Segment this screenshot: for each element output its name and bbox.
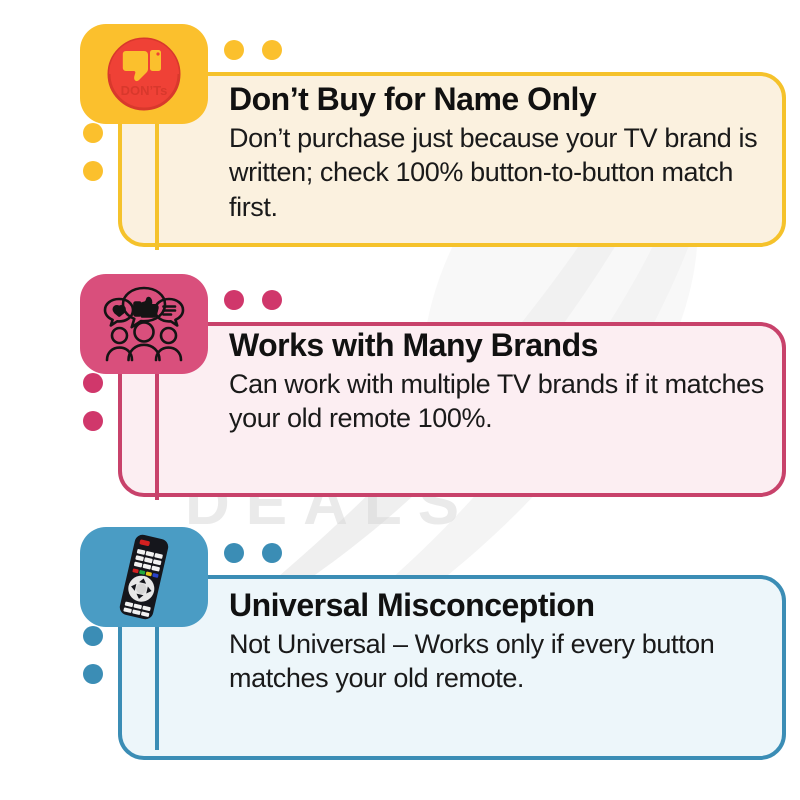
decor-dot — [83, 411, 103, 431]
card-many-brands-title: Works with Many Brands — [229, 328, 769, 363]
card-many-brands-body-text: Can work with multiple TV brands if it m… — [229, 367, 769, 436]
decor-dot — [83, 373, 103, 393]
card-universal-text: Universal Misconception Not Universal – … — [229, 588, 769, 696]
people-feedback-icon — [101, 285, 187, 363]
tv-remote-icon — [105, 532, 183, 622]
card-donts-title: Don’t Buy for Name Only — [229, 82, 769, 117]
card-universal-body-text: Not Universal – Works only if every butt… — [229, 627, 769, 696]
decor-dot — [83, 664, 103, 684]
decor-dot — [83, 161, 103, 181]
decor-dot — [262, 543, 282, 563]
card-many-brands-text: Works with Many Brands Can work with mul… — [229, 328, 769, 436]
decor-dot — [224, 40, 244, 60]
decor-dot — [83, 123, 103, 143]
decor-dot — [224, 290, 244, 310]
card-donts-stem — [155, 120, 159, 250]
card-universal-title: Universal Misconception — [229, 588, 769, 623]
decor-dot — [83, 626, 103, 646]
badge-universal[interactable] — [80, 527, 208, 627]
badge-donts-label: DON’Ts — [121, 83, 168, 98]
card-universal-stem — [155, 620, 159, 750]
card-donts-body-text: Don’t purchase just because your TV bran… — [229, 121, 769, 225]
badge-donts[interactable]: DON’Ts — [80, 24, 208, 124]
card-many-brands-stem — [155, 370, 159, 500]
decor-dot — [224, 543, 244, 563]
thumbs-down-donts-icon: DON’Ts — [107, 37, 181, 111]
decor-dot — [262, 40, 282, 60]
infographic-canvas: DEALS DON’Ts — [0, 0, 800, 800]
decor-dot — [262, 290, 282, 310]
card-donts-text: Don’t Buy for Name Only Don’t purchase j… — [229, 82, 769, 224]
badge-many-brands[interactable] — [80, 274, 208, 374]
